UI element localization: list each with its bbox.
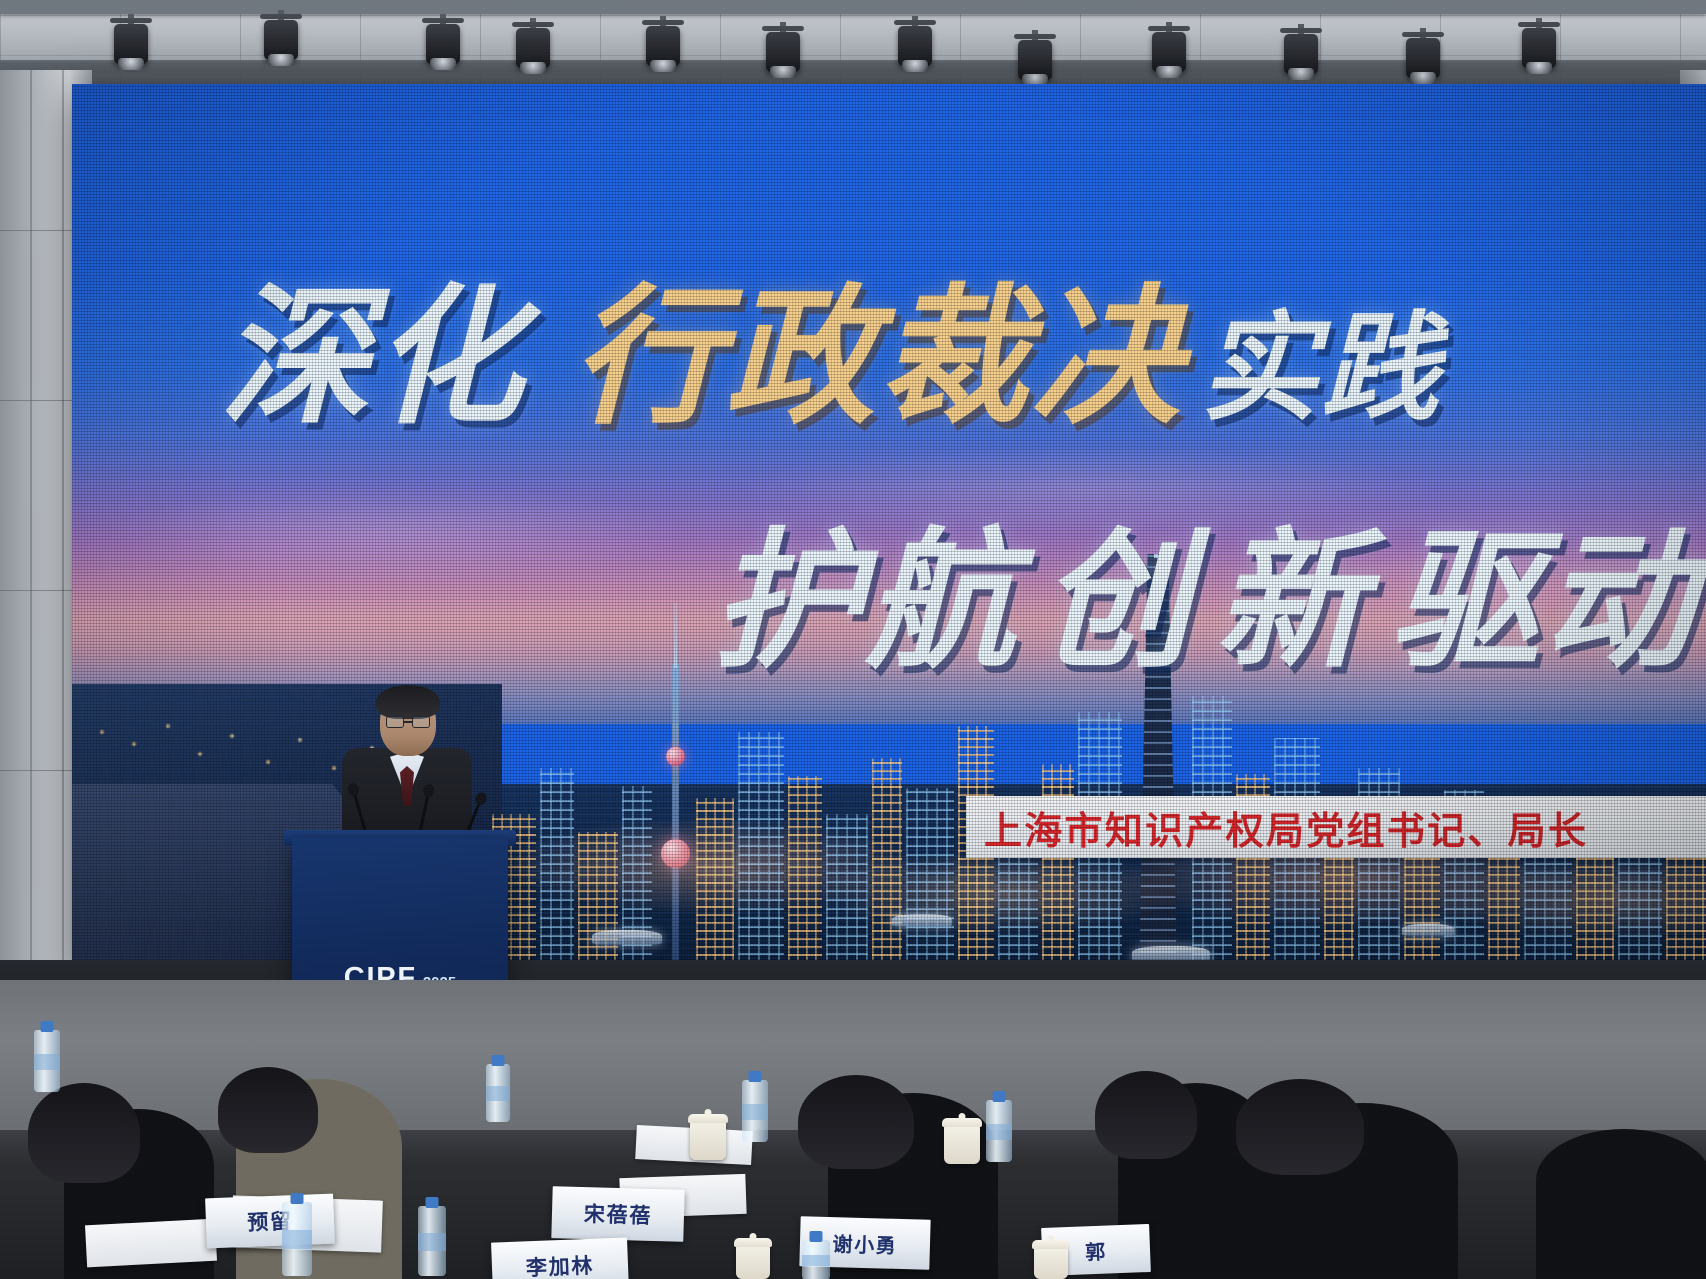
water-bottle: [486, 1064, 510, 1122]
stage-light-icon: [1400, 28, 1446, 90]
water-bottle: [282, 1202, 312, 1276]
stage-light-icon: [1278, 24, 1324, 86]
water-bottle: [742, 1080, 768, 1142]
paper-document: [85, 1219, 217, 1268]
nameplate-text: 郭: [1085, 1235, 1108, 1265]
lower-third-banner: 上海市知识产权局党组书记、局长: [966, 796, 1706, 858]
stage-light-icon: [258, 10, 304, 72]
stage-light-icon: [640, 16, 686, 78]
audience-hair: [1236, 1079, 1364, 1175]
audience-hair: [28, 1083, 140, 1183]
water-bottle: [802, 1240, 830, 1279]
tea-cup: [1034, 1246, 1068, 1279]
speaker-hair: [376, 685, 440, 719]
lower-third-text: 上海市知识产权局党组书记、局长: [984, 800, 1588, 855]
nameplate-text: 谢小勇: [832, 1228, 898, 1259]
stage-light-icon: [420, 14, 466, 76]
nameplate: 宋蓓蓓: [551, 1186, 684, 1242]
audience-hair: [1095, 1071, 1197, 1159]
tea-cup: [736, 1244, 770, 1279]
glasses-icon: [386, 716, 430, 728]
screen-river-boat: [892, 914, 952, 927]
water-bottle: [418, 1206, 446, 1276]
tea-cup: [944, 1124, 980, 1164]
nameplate-text: 李加林: [525, 1250, 594, 1279]
water-bottle: [986, 1100, 1012, 1162]
stage-light-icon: [108, 14, 154, 76]
stage-light-icon: [1012, 30, 1058, 92]
stage-light-icon: [510, 18, 556, 80]
stage-light-icon: [892, 16, 938, 78]
nameplate: 预留: [205, 1194, 335, 1249]
tea-cup: [690, 1120, 726, 1160]
stage-light-icon: [1146, 22, 1192, 84]
audience-person: [1536, 1129, 1706, 1279]
stage-light-icon: [1516, 18, 1562, 80]
nameplate: 李加林: [491, 1237, 629, 1279]
conference-photo-scene: 深化行政裁决实践 护航创新驱动 上海市知识产权局党组书记、局长 CIPF: [0, 0, 1706, 1279]
screen-river-boat: [1402, 924, 1454, 936]
audience-hair: [218, 1067, 318, 1153]
water-bottle: [34, 1030, 60, 1092]
stage-light-icon: [760, 22, 806, 84]
audience-hair: [798, 1075, 914, 1169]
nameplate-text: 宋蓓蓓: [584, 1198, 653, 1230]
screen-river-boat: [592, 930, 662, 945]
ceiling-beam-front: [0, 0, 1706, 14]
